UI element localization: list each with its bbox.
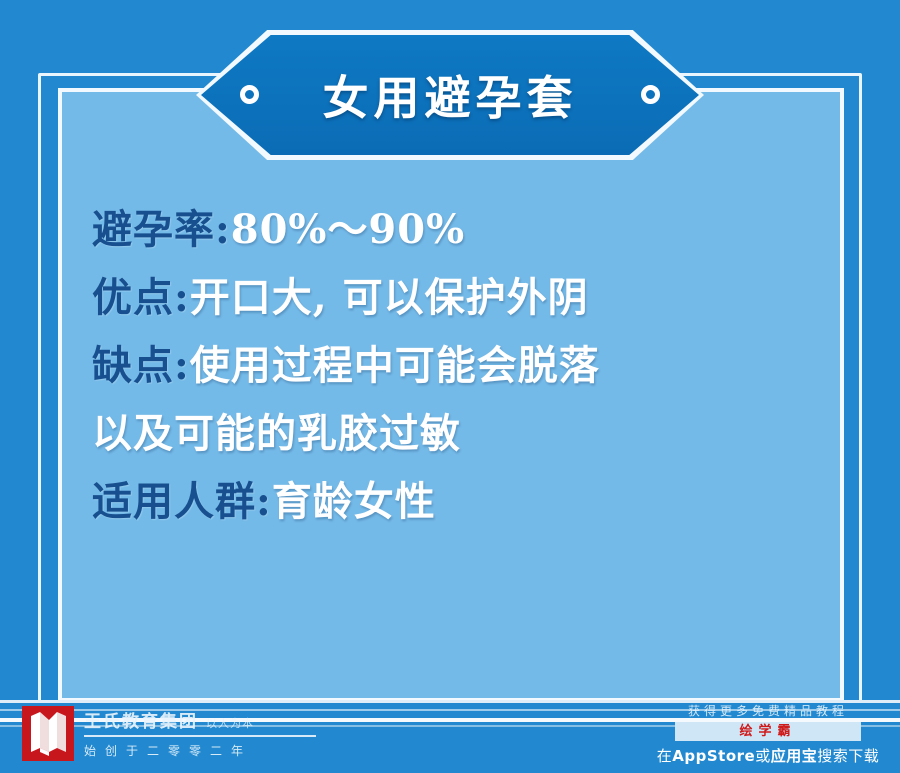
line-value: 以及可能的乳胶过敏 — [92, 410, 461, 457]
promo-mid: 或 — [755, 747, 771, 765]
promo-block: 获得更多免费精品教程 绘学霸 在AppStore或应用宝搜索下载 — [644, 702, 892, 766]
line-value: 育龄女性 — [272, 478, 436, 525]
brand-name: 王氏教育集团 — [84, 712, 198, 732]
page-title: 女用避孕套 — [196, 62, 704, 128]
promo-headline: 获得更多免费精品教程 — [644, 702, 892, 719]
promo-prefix: 在 — [657, 747, 673, 765]
brand-name-row: 王氏教育集团以人为本 — [84, 707, 384, 732]
line-label: 缺点: — [92, 342, 190, 389]
title-banner: 女用避孕套 — [196, 30, 704, 160]
brand-block: 王氏教育集团以人为本 始创于二零零二年 — [84, 707, 384, 759]
promo-store-appstore: AppStore — [672, 747, 755, 765]
content-line: 优点:开口大, 可以保护外阴 — [92, 264, 792, 332]
line-value: 使用过程中可能会脱落 — [190, 342, 600, 389]
line-label: 优点: — [92, 274, 190, 321]
line-label: 避孕率: — [92, 206, 231, 253]
content-line: 以及可能的乳胶过敏 — [92, 400, 792, 468]
line-label: 适用人群: — [92, 478, 272, 525]
line-value: 80%～90% — [231, 206, 465, 253]
content-line: 避孕率:80%～90% — [92, 196, 792, 264]
wangshi-book-logo-icon — [22, 706, 74, 761]
brand-divider — [84, 735, 316, 737]
content-line: 缺点:使用过程中可能会脱落 — [92, 332, 792, 400]
brand-founded: 始创于二零零二年 — [84, 742, 384, 759]
line-value: 开口大, 可以保护外阴 — [190, 274, 589, 321]
content-line: 适用人群:育龄女性 — [92, 468, 792, 536]
content-lines: 避孕率:80%～90% 优点:开口大, 可以保护外阴 缺点:使用过程中可能会脱落… — [92, 196, 792, 536]
brand-slogan: 以人为本 — [206, 717, 254, 730]
promo-suffix: 搜索下载 — [817, 747, 879, 765]
poster-root: 女用避孕套 避孕率:80%～90% 优点:开口大, 可以保护外阴 缺点:使用过程… — [0, 0, 900, 773]
promo-store-yingyongbao: 应用宝 — [771, 747, 818, 765]
promo-download-line: 在AppStore或应用宝搜索下载 — [644, 745, 892, 766]
promo-app-badge[interactable]: 绘学霸 — [675, 722, 861, 741]
promo-app-name: 绘学霸 — [739, 725, 796, 738]
